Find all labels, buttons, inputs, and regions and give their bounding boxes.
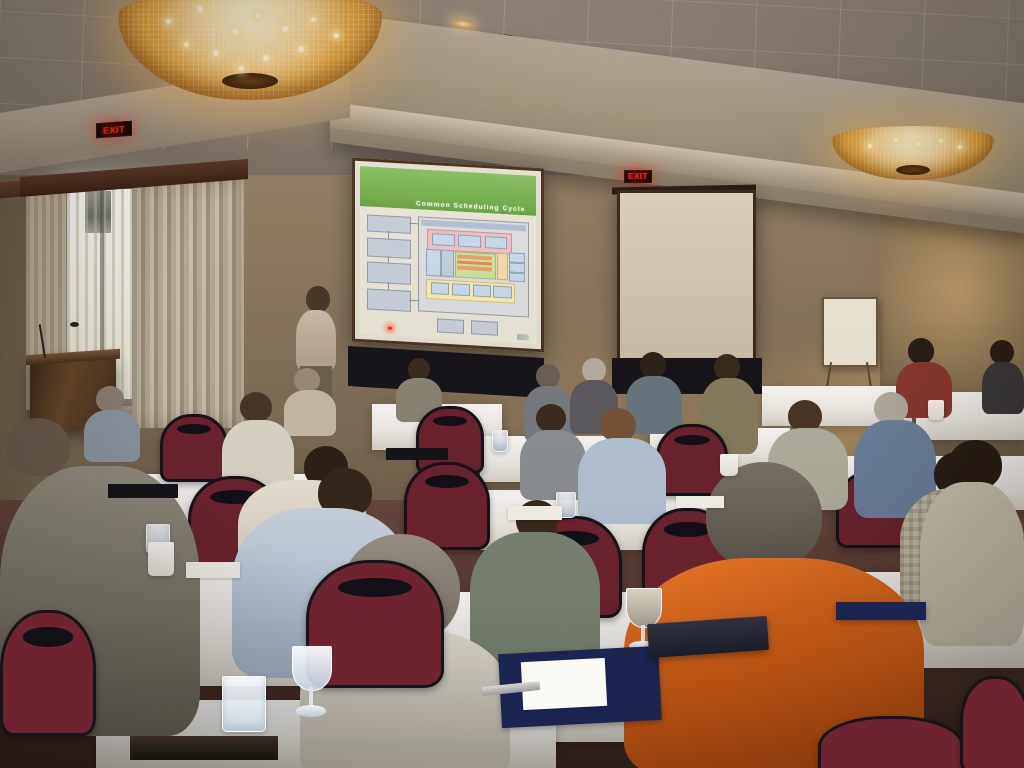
chair-keyhole [23,627,73,646]
slide-process-diagram [418,216,529,317]
chair-front-right[interactable] [818,716,958,768]
torso [920,482,1024,646]
handout-paper[interactable] [676,496,724,508]
head [640,352,666,378]
handout-paper[interactable] [508,506,562,520]
head [240,392,272,422]
handout-paper[interactable] [186,562,240,578]
presenter-torso [296,310,336,370]
head [536,404,566,432]
diagram-box [473,284,491,297]
chair-keyhole [338,578,412,598]
water-glass-tumbler[interactable] [492,430,508,452]
binder-foreground[interactable] [130,736,278,760]
diagram-box [485,236,508,250]
projected-slide: Common Scheduling Cycle [360,166,536,344]
slide-body [360,206,536,344]
chair-backrest [818,716,964,768]
head [294,368,320,392]
slide-box-services [367,289,411,313]
foam-coffee-cup[interactable] [928,400,944,420]
laptop-closed[interactable] [108,484,178,498]
attendee-mid-1 [520,404,586,496]
torso [520,430,586,500]
main-projection-screen: Common Scheduling Cycle [352,158,544,353]
diagram-box [441,250,454,277]
head [408,358,430,380]
attendee-back-6 [982,340,1024,410]
exit-sign-right: EXIT [624,170,652,183]
slide-connector [388,255,389,263]
diagram-box [432,233,455,247]
foam-coffee-cup[interactable] [148,542,174,576]
head [990,340,1014,364]
head [6,418,70,476]
presenter-head [306,286,330,312]
diagram-box [426,249,441,276]
water-goblet[interactable] [292,646,330,720]
slide-connector [388,231,389,239]
head [582,358,606,382]
head [600,408,636,442]
attendee-right-dark [920,440,1024,640]
diagram-box [431,282,449,295]
slide-box-exit [437,318,464,334]
chair-backrest [960,676,1024,768]
exit-sign-left: EXIT [96,121,132,139]
chair-keyhole [674,435,711,446]
slide-box-entry [471,320,498,336]
laser-pointer-dot [388,326,392,329]
torso [982,362,1024,414]
slide-logo [517,334,529,341]
diagram-box [509,272,525,282]
goblet-stem [309,687,314,706]
diagram-box [497,253,509,280]
slide-box-analysis [367,214,411,234]
head [96,386,124,412]
flip-chart-easel [822,297,878,367]
head [536,364,560,388]
chair-front-far-right[interactable] [960,676,1024,768]
navy-folder-portfolio[interactable] [836,602,926,620]
chandelier-sparkles [118,0,382,100]
chair-front-left[interactable] [0,610,90,730]
head [908,338,934,364]
water-glass-tumbler[interactable] [222,676,266,732]
goblet-foot [296,705,326,717]
head [714,354,740,380]
slide-box-confirmation [367,262,411,286]
candy-dish-bowl [626,588,662,628]
drape-right [132,178,244,428]
diagram-box [493,286,511,299]
chair-keyhole [425,475,470,488]
diagram-box [452,283,470,296]
laptop-closed[interactable] [386,448,448,460]
chair-keyhole [433,416,468,426]
slide-connector [388,282,389,290]
goblet-bowl [292,646,332,691]
diagram-box [458,234,481,248]
conference-room-photo: EXIT EXIT Common Scheduling Cycle [0,0,1024,768]
foam-coffee-cup[interactable] [720,454,738,476]
microphone-icon [70,322,79,327]
goblet-stem [641,625,645,642]
chandelier-sparkles-right [832,126,994,180]
head [706,462,822,570]
slide-box-plan [367,237,411,258]
chair-backrest [0,610,96,736]
secondary-projection-screen [617,190,756,366]
